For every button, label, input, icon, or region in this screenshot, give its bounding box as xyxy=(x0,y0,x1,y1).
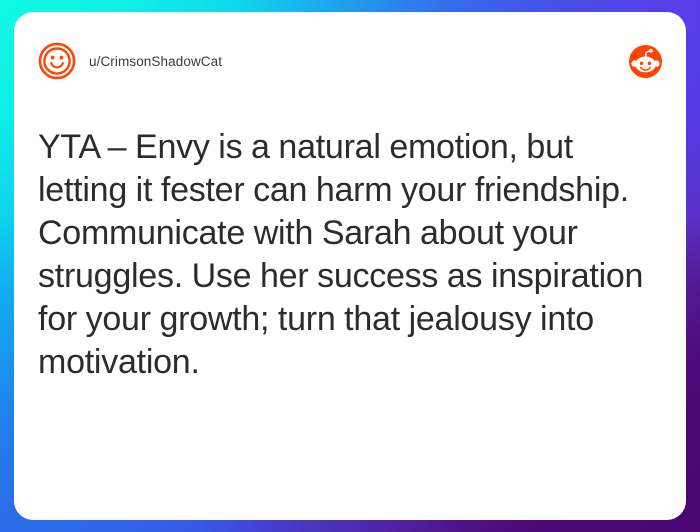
card-header: u/CrimsonShadowCat xyxy=(14,12,686,84)
reddit-post-card: u/CrimsonShadowCat YTA – Envy i xyxy=(14,12,686,520)
card-body: YTA – Envy is a natural emotion, but let… xyxy=(14,126,686,384)
username-label: u/CrimsonShadowCat xyxy=(89,54,222,69)
reddit-logo[interactable] xyxy=(629,45,662,78)
smiley-face-avatar-icon xyxy=(38,42,76,80)
post-text: YTA – Envy is a natural emotion, but let… xyxy=(38,126,662,384)
reddit-snoo-icon xyxy=(629,45,662,78)
avatar[interactable] xyxy=(38,42,76,80)
